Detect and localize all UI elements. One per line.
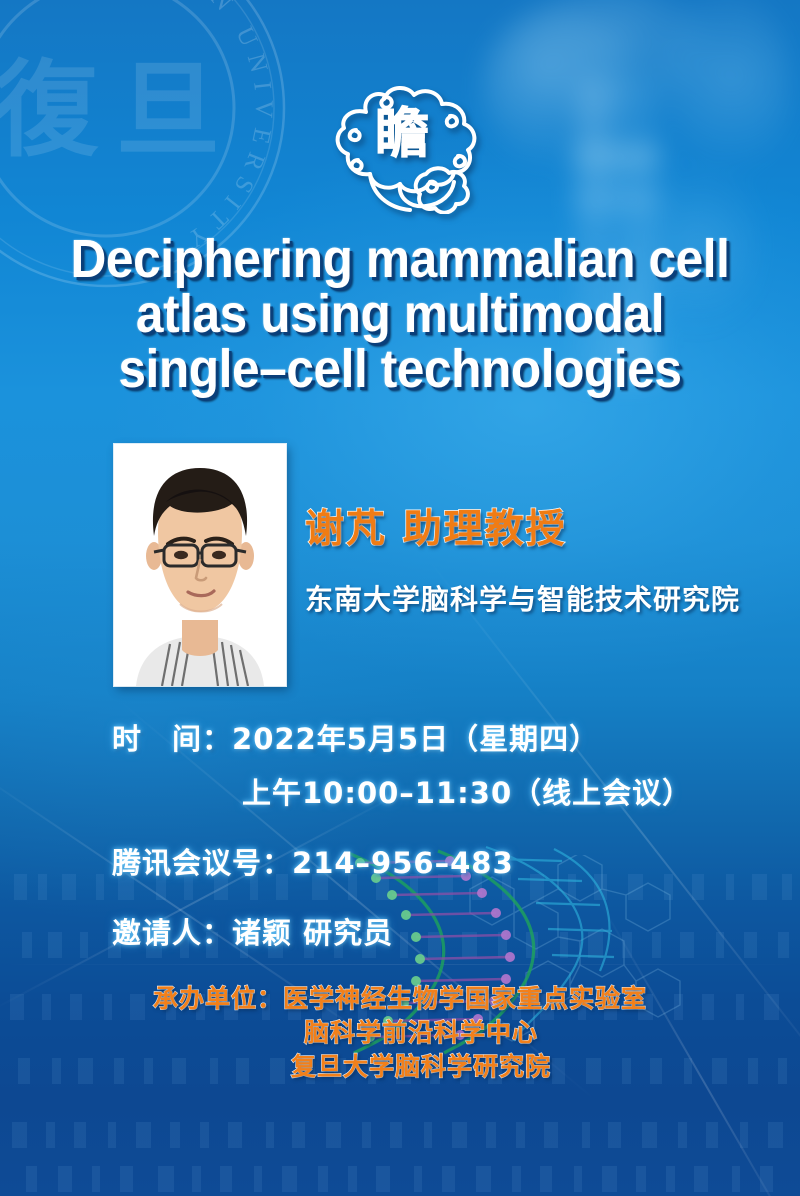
title-line-1: Deciphering mammalian cell [32,232,768,287]
detail-meeting-row: 腾讯会议号：214–956–483 [112,836,712,890]
speaker-affiliation: 东南大学脑科学与智能技术研究院 [305,578,740,618]
detail-time-row: 上午10:00–11:30（线上会议） [112,766,712,820]
inviter-label: 邀请人： [112,916,232,950]
time-label: 时 间： [112,722,232,756]
brain-logo-icon: 瞻 [318,82,490,214]
organizer-line-2: 脑科学前沿科学中心 [0,1016,800,1050]
organizer-line-3: 复旦大学脑科学研究院 [0,1050,800,1084]
detail-inviter-row: 邀请人：诸颖 研究员 [112,906,712,960]
organizer-line-1: 承办单位：医学神经生物学国家重点实验室 [0,982,800,1016]
seminar-poster: FUDAN UNIVERSITY 復 旦 [0,0,800,1196]
brain-logo-character: 瞻 [375,102,429,165]
page-title: Deciphering mammalian cell atlas using m… [32,232,768,397]
organizers-block: 承办单位：医学神经生物学国家重点实验室 脑科学前沿科学中心 复旦大学脑科学研究院 [0,982,800,1084]
event-time-range: 上午10:00–11:30（线上会议） [242,776,692,810]
meeting-label: 腾讯会议号： [112,846,292,880]
speaker-photo [114,444,286,686]
inviter-name: 诸颖 研究员 [232,916,393,950]
event-date: 2022年5月5日（星期四） [232,722,599,756]
event-details: 时 间：2022年5月5日（星期四） 上午10:00–11:30（线上会议） 腾… [112,712,712,960]
meeting-id: 214–956–483 [292,846,514,880]
title-line-3: single–cell technologies [32,342,768,397]
title-line-2: atlas using multimodal [32,287,768,342]
speaker-name: 谢芃 助理教授 [305,498,567,554]
detail-date-row: 时 间：2022年5月5日（星期四） [112,712,712,766]
